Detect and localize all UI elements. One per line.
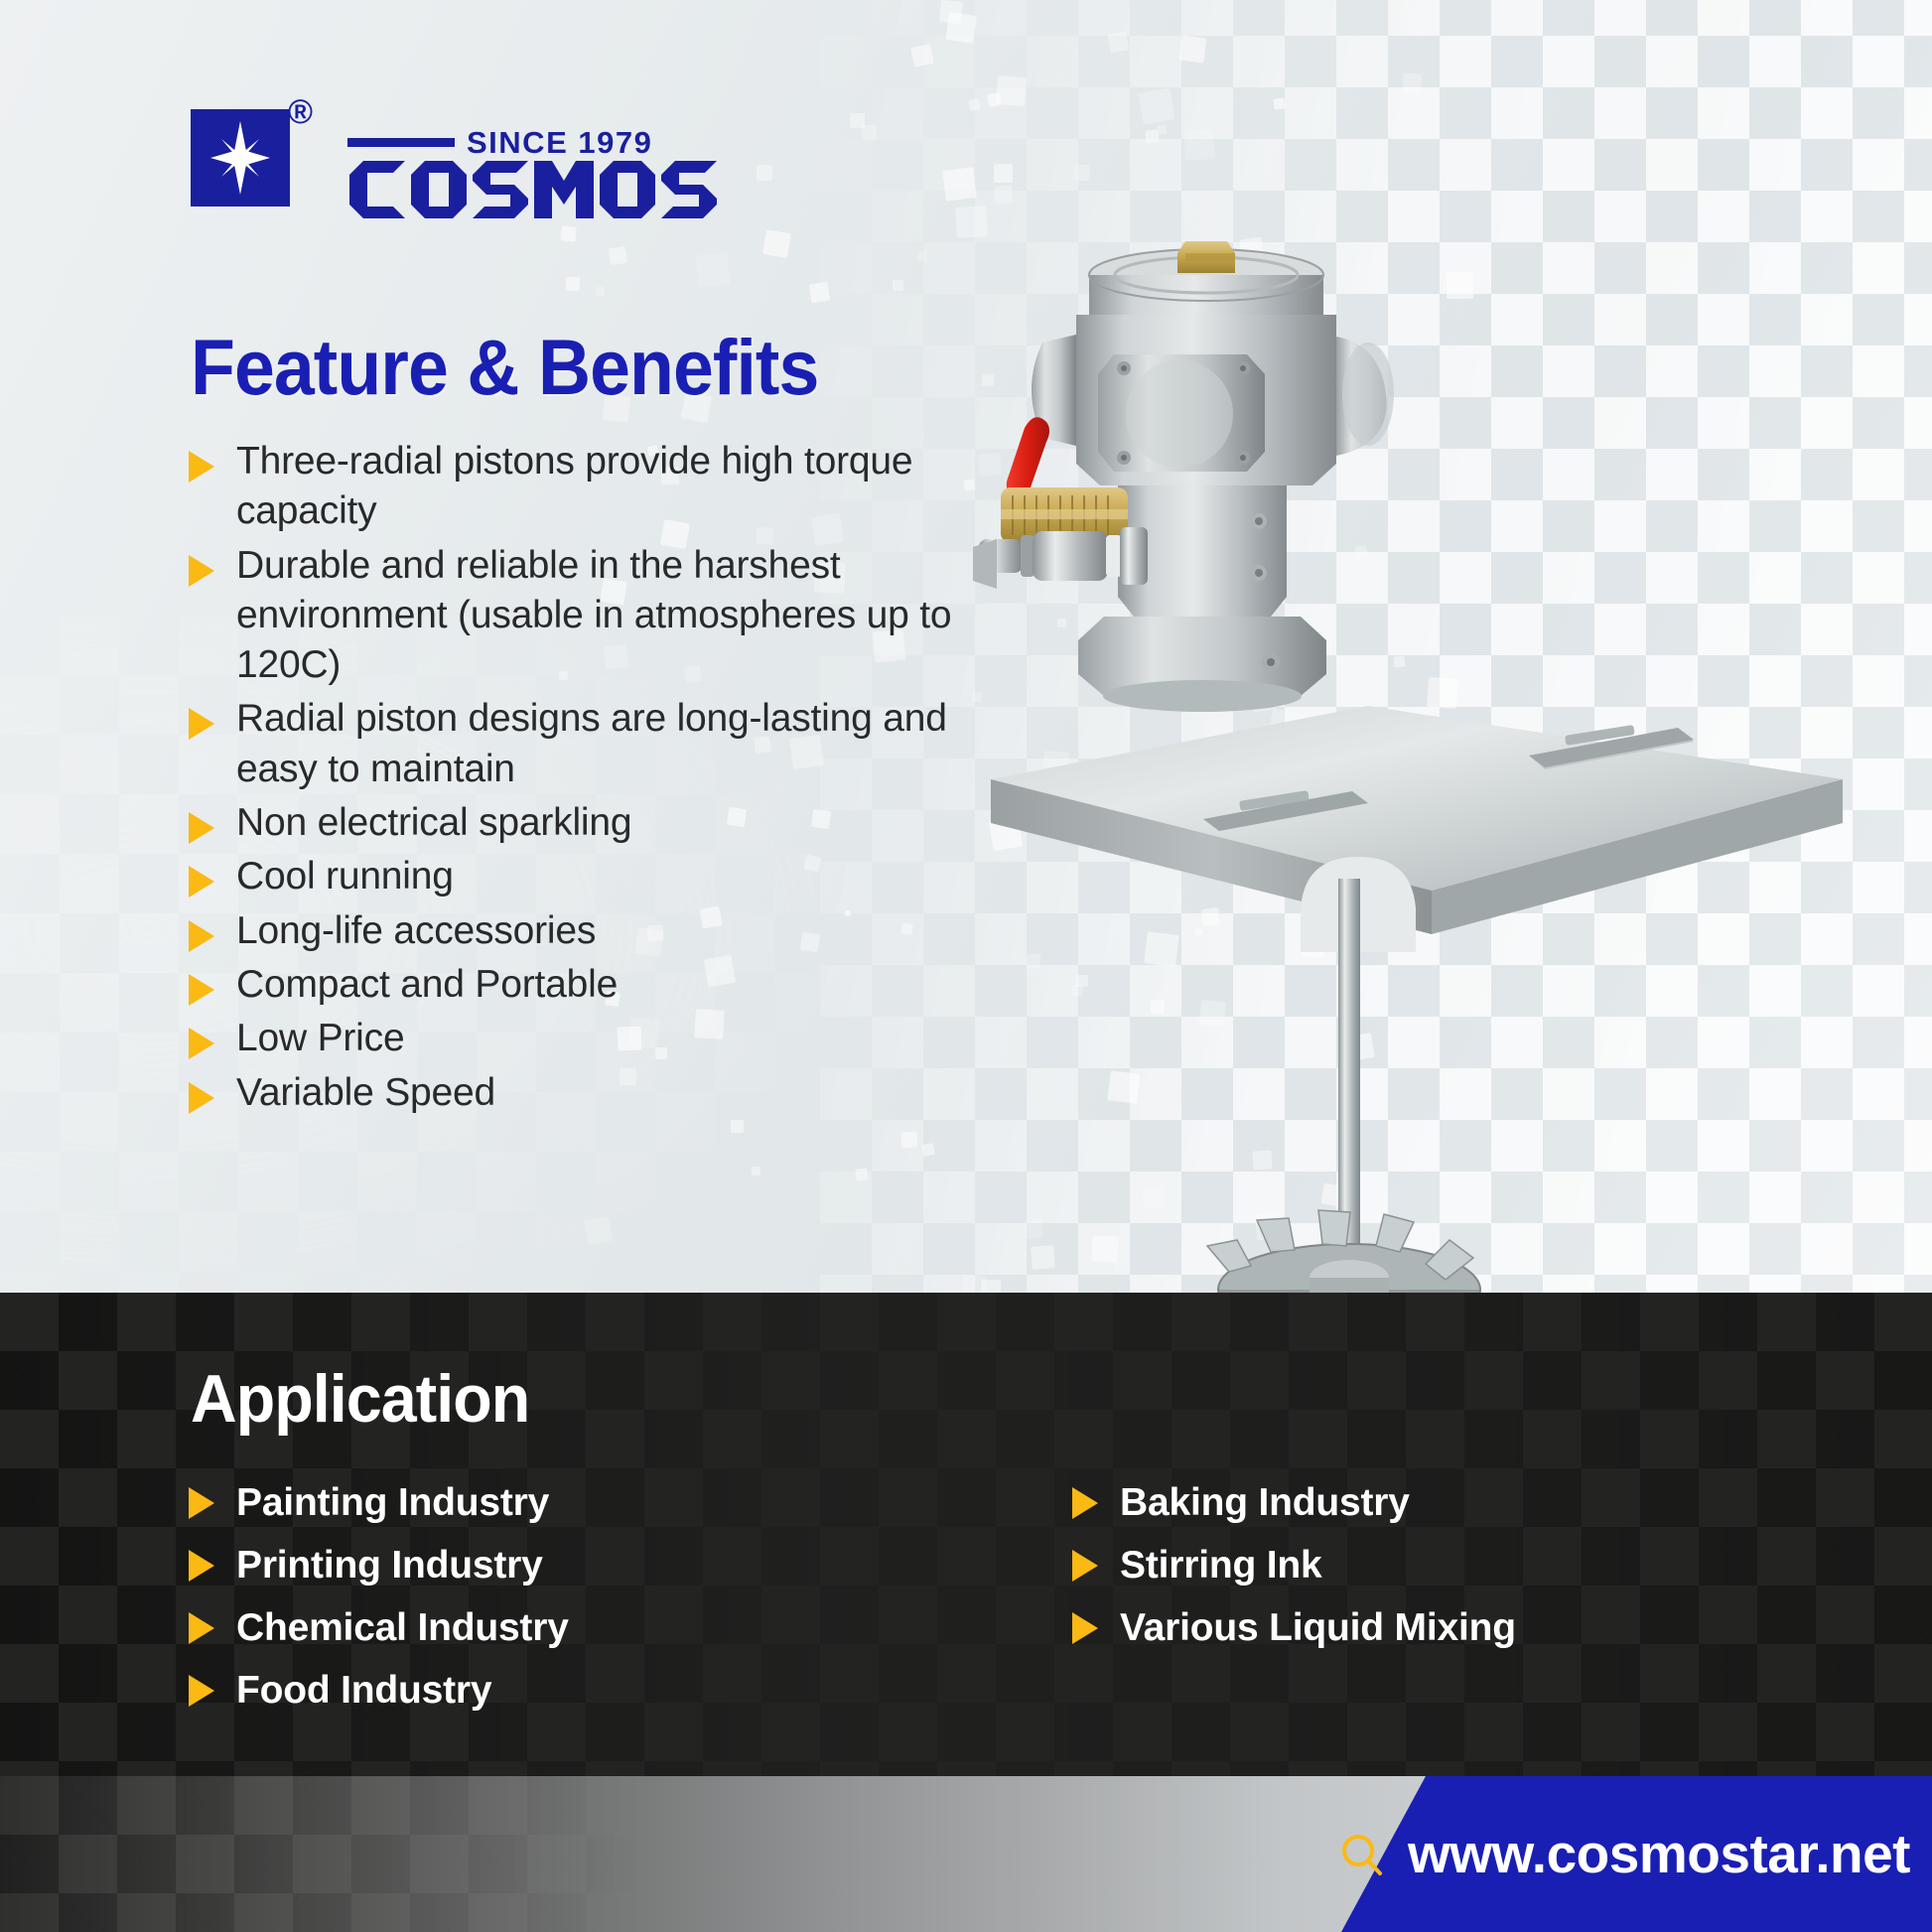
triangle-bullet-icon	[189, 974, 214, 1006]
application-item-label: Food Industry	[236, 1671, 491, 1710]
application-item: Chemical Industry	[189, 1596, 824, 1659]
feature-item: Cool running	[189, 852, 993, 901]
feature-item: Low Price	[189, 1014, 993, 1063]
website-url-text: www.cosmostar.net	[1408, 1827, 1910, 1881]
triangle-bullet-icon	[1072, 1487, 1098, 1519]
feature-item: Durable and reliable in the harshest env…	[189, 541, 993, 691]
feature-item: Three-radial pistons provide high torque…	[189, 437, 993, 537]
poster-canvas: ® SINCE 1979	[0, 0, 1932, 1932]
application-list-left: Painting IndustryPrinting IndustryChemic…	[189, 1471, 824, 1722]
cosmostar-wordmark	[347, 159, 764, 220]
feature-item-label: Compact and Portable	[236, 960, 618, 1010]
feature-item-label: Low Price	[236, 1014, 404, 1063]
since-row: SINCE 1979	[347, 127, 764, 157]
air-motor-housing	[1032, 241, 1394, 712]
feature-item: Variable Speed	[189, 1068, 993, 1118]
hose-barb-fitting	[973, 539, 997, 589]
website-link[interactable]: www.cosmostar.net	[1257, 1776, 1932, 1932]
application-item: Food Industry	[189, 1659, 824, 1722]
logo-text-block: SINCE 1979	[347, 103, 764, 220]
since-rule	[347, 138, 455, 147]
footer-diamond-pattern	[0, 1776, 755, 1932]
since-label: SINCE 1979	[467, 127, 652, 158]
application-columns: Painting IndustryPrinting IndustryChemic…	[0, 1471, 1932, 1722]
footer-bar: www.cosmostar.net	[0, 1776, 1932, 1932]
registered-trademark-icon: ®	[288, 95, 313, 129]
triangle-bullet-icon	[189, 1487, 214, 1519]
triangle-bullet-icon	[189, 812, 214, 844]
triangle-bullet-icon	[189, 1550, 214, 1582]
feature-item-label: Variable Speed	[236, 1068, 495, 1118]
feature-item-label: Durable and reliable in the harshest env…	[236, 541, 993, 691]
feature-item: Long-life accessories	[189, 906, 993, 956]
application-item: Various Liquid Mixing	[1072, 1596, 1787, 1659]
application-item-label: Printing Industry	[236, 1546, 543, 1585]
triangle-bullet-icon	[189, 1028, 214, 1059]
application-item-label: Painting Industry	[236, 1483, 549, 1522]
feature-item-label: Long-life accessories	[236, 906, 596, 956]
application-item: Painting Industry	[189, 1471, 824, 1534]
cosmostar-h-star-mark-icon: ®	[185, 103, 296, 212]
feature-item: Compact and Portable	[189, 960, 993, 1010]
feature-item-label: Three-radial pistons provide high torque…	[236, 437, 993, 537]
triangle-bullet-icon	[1072, 1550, 1098, 1582]
mounting-plate	[991, 706, 1843, 952]
triangle-bullet-icon	[189, 1675, 214, 1707]
application-list-right: Baking IndustryStirring InkVarious Liqui…	[1072, 1471, 1787, 1722]
application-item-label: Stirring Ink	[1120, 1546, 1321, 1585]
features-list: Three-radial pistons provide high torque…	[189, 437, 993, 1122]
red-lever-ball-valve	[1007, 417, 1049, 497]
feature-item: Non electrical sparkling	[189, 798, 993, 848]
triangle-bullet-icon	[1072, 1612, 1098, 1644]
application-item-label: Chemical Industry	[236, 1608, 569, 1647]
application-item: Printing Industry	[189, 1534, 824, 1596]
application-item-label: Various Liquid Mixing	[1120, 1608, 1516, 1647]
feature-item-label: Cool running	[236, 852, 454, 901]
triangle-bullet-icon	[189, 866, 214, 897]
features-heading: Feature & Benefits	[191, 328, 818, 406]
application-item: Baking Industry	[1072, 1471, 1787, 1534]
triangle-bullet-icon	[189, 708, 214, 740]
triangle-bullet-icon	[189, 451, 214, 483]
application-item-label: Baking Industry	[1120, 1483, 1410, 1522]
feature-item-label: Radial piston designs are long-lasting a…	[236, 694, 993, 794]
triangle-bullet-icon	[189, 1612, 214, 1644]
application-item: Stirring Ink	[1072, 1534, 1787, 1596]
brass-vent-plug	[1177, 241, 1235, 273]
application-heading: Application	[191, 1365, 529, 1433]
brand-logo[interactable]: ® SINCE 1979	[185, 103, 764, 220]
feature-item-label: Non electrical sparkling	[236, 798, 631, 848]
triangle-bullet-icon	[189, 555, 214, 587]
triangle-bullet-icon	[189, 1082, 214, 1114]
search-icon	[1338, 1832, 1384, 1877]
pneumatic-air-motor-mixer-photo	[973, 223, 1866, 1405]
feature-item: Radial piston designs are long-lasting a…	[189, 694, 993, 794]
triangle-bullet-icon	[189, 920, 214, 952]
